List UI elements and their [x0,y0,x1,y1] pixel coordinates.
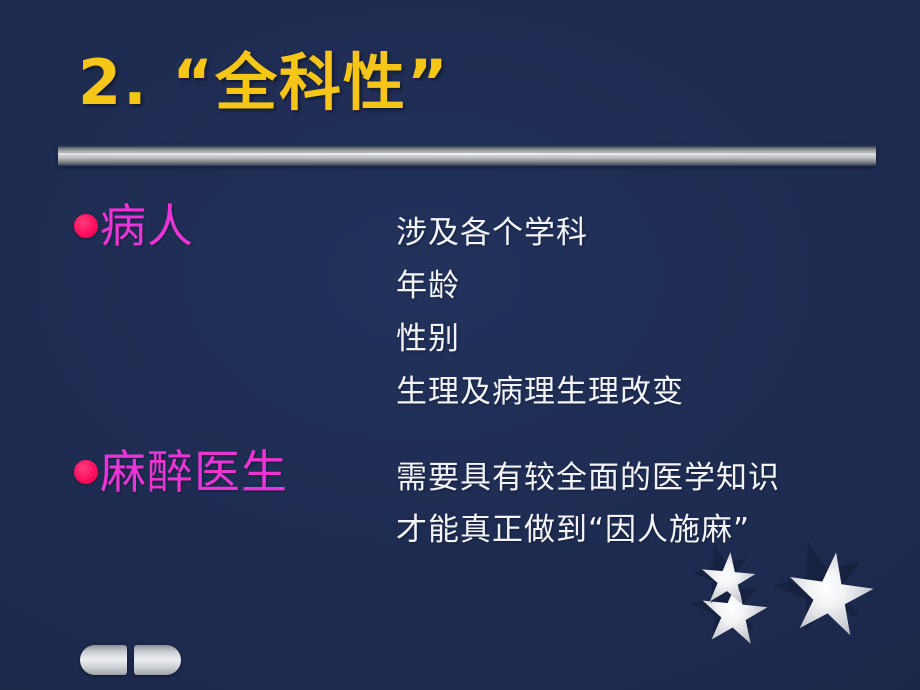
star-glyph-icon [780,546,879,645]
body-line: 性别 [396,324,684,355]
body-line: 涉及各个学科 [396,218,684,249]
previous-slide-button[interactable] [80,645,127,675]
body-line: 生理及病理生理改变 [396,377,684,408]
bullet-group-patient: 病人 [74,202,194,250]
slide-navigation [80,645,181,675]
bullet-heading-patient: 病人 [74,202,194,250]
next-slide-button[interactable] [134,645,181,675]
star-icon [700,552,762,614]
bullet-label-patient: 病人 [100,202,194,250]
bullet-label-anesthesiologist: 麻醉医生 [100,448,288,496]
slide-title: 2. “全科性” [78,52,450,114]
body-line: 需要具有较全面的医学知识 [396,463,780,494]
body-line: 才能真正做到“因人施麻” [396,515,780,546]
star-glyph-icon [698,550,759,611]
body-text-patient: 涉及各个学科 年龄 性别 生理及病理生理改变 [396,218,684,408]
bullet-dot-icon [74,214,98,238]
body-text-anesthesiologist: 需要具有较全面的医学知识 才能真正做到“因人施麻” [396,463,780,546]
title-divider-bar [58,145,876,166]
bullet-dot-icon [74,460,98,484]
body-line: 年龄 [396,271,684,302]
star-icon [786,552,882,648]
bullet-group-anesthesiologist: 麻醉医生 [74,448,288,496]
bullet-heading-anesthesiologist: 麻醉医生 [74,448,288,496]
slide-canvas: 2. “全科性” 病人 涉及各个学科 年龄 性别 生理及病理生理改变 麻醉医生 … [0,0,920,690]
